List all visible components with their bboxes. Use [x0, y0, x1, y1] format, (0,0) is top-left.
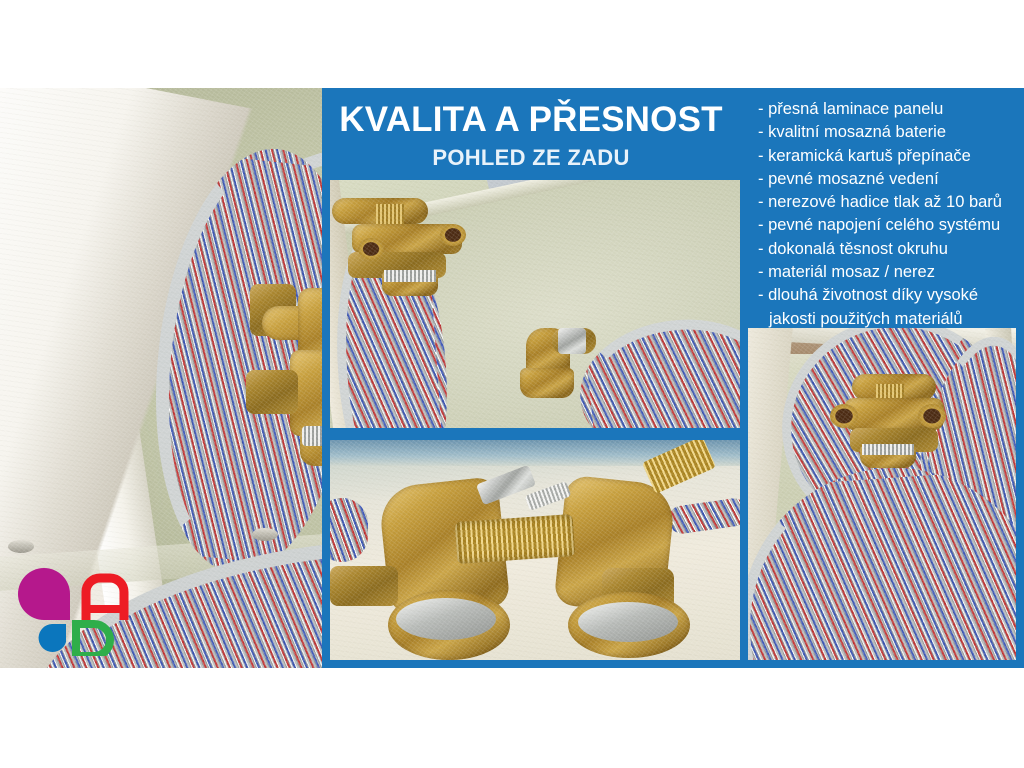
logo-blue-petal-icon: [39, 624, 66, 652]
feature-item: - materiál mosaz / nerez: [758, 261, 1024, 284]
photo-middle-bottom: [330, 440, 740, 660]
feature-item: - dlouhá životnost díky vysoké: [758, 284, 1024, 307]
feature-item: - pevné napojení celého systému: [758, 214, 1024, 237]
feature-list: - přesná laminace panelu - kvalitní mosa…: [758, 98, 1024, 331]
background-valve-hub-lower-left: [246, 370, 298, 414]
page-title: KVALITA A PŘESNOST: [322, 100, 740, 140]
photo-mt-port-right: [440, 224, 466, 246]
background-screw-left: [8, 540, 34, 553]
logo-green-leaf-icon: [76, 624, 110, 656]
photo-rp-port-right: [918, 404, 946, 428]
photo-rp-port-left: [830, 404, 858, 428]
photo-rp-valve-steel-ring: [862, 444, 914, 455]
photo-mb-flange-steel-left: [396, 598, 496, 640]
blue-info-panel: KVALITA A PŘESNOST POHLED ZE ZADU - přes…: [322, 88, 1024, 668]
photo-mb-stub-left: [330, 566, 398, 606]
poster-canvas: KVALITA A PŘESNOST POHLED ZE ZADU - přes…: [0, 0, 1024, 768]
feature-item: - pevné mosazné vedení: [758, 168, 1024, 191]
feature-item: - přesná laminace panelu: [758, 98, 1024, 121]
photo-mt-valve-nozzle: [376, 204, 404, 224]
photo-mb-threaded-barrel: [455, 514, 576, 564]
feature-item: - keramická kartuš přepínače: [758, 145, 1024, 168]
logo-red-arch-icon: [86, 578, 124, 620]
photo-middle-top: [330, 180, 740, 428]
company-logo[interactable]: [18, 562, 130, 656]
logo-magenta-petal-icon: [18, 568, 70, 620]
photo-mt-valve-steel-ring: [384, 270, 436, 282]
photo-mt-port-left: [358, 238, 384, 260]
photo-mt-elbow-base: [520, 368, 574, 398]
feature-item: - dokonalá těsnost okruhu: [758, 238, 1024, 261]
photo-mt-compression-nut: [558, 328, 586, 354]
page-subtitle: POHLED ZE ZADU: [322, 144, 740, 172]
feature-item: - nerezové hadice tlak až 10 barů: [758, 191, 1024, 214]
title-block: KVALITA A PŘESNOST POHLED ZE ZADU: [322, 100, 740, 172]
background-screw-right: [252, 528, 278, 541]
feature-item: - kvalitní mosazná baterie: [758, 121, 1024, 144]
photo-right: [748, 328, 1016, 660]
photo-mb-flange-steel-right: [578, 602, 678, 642]
